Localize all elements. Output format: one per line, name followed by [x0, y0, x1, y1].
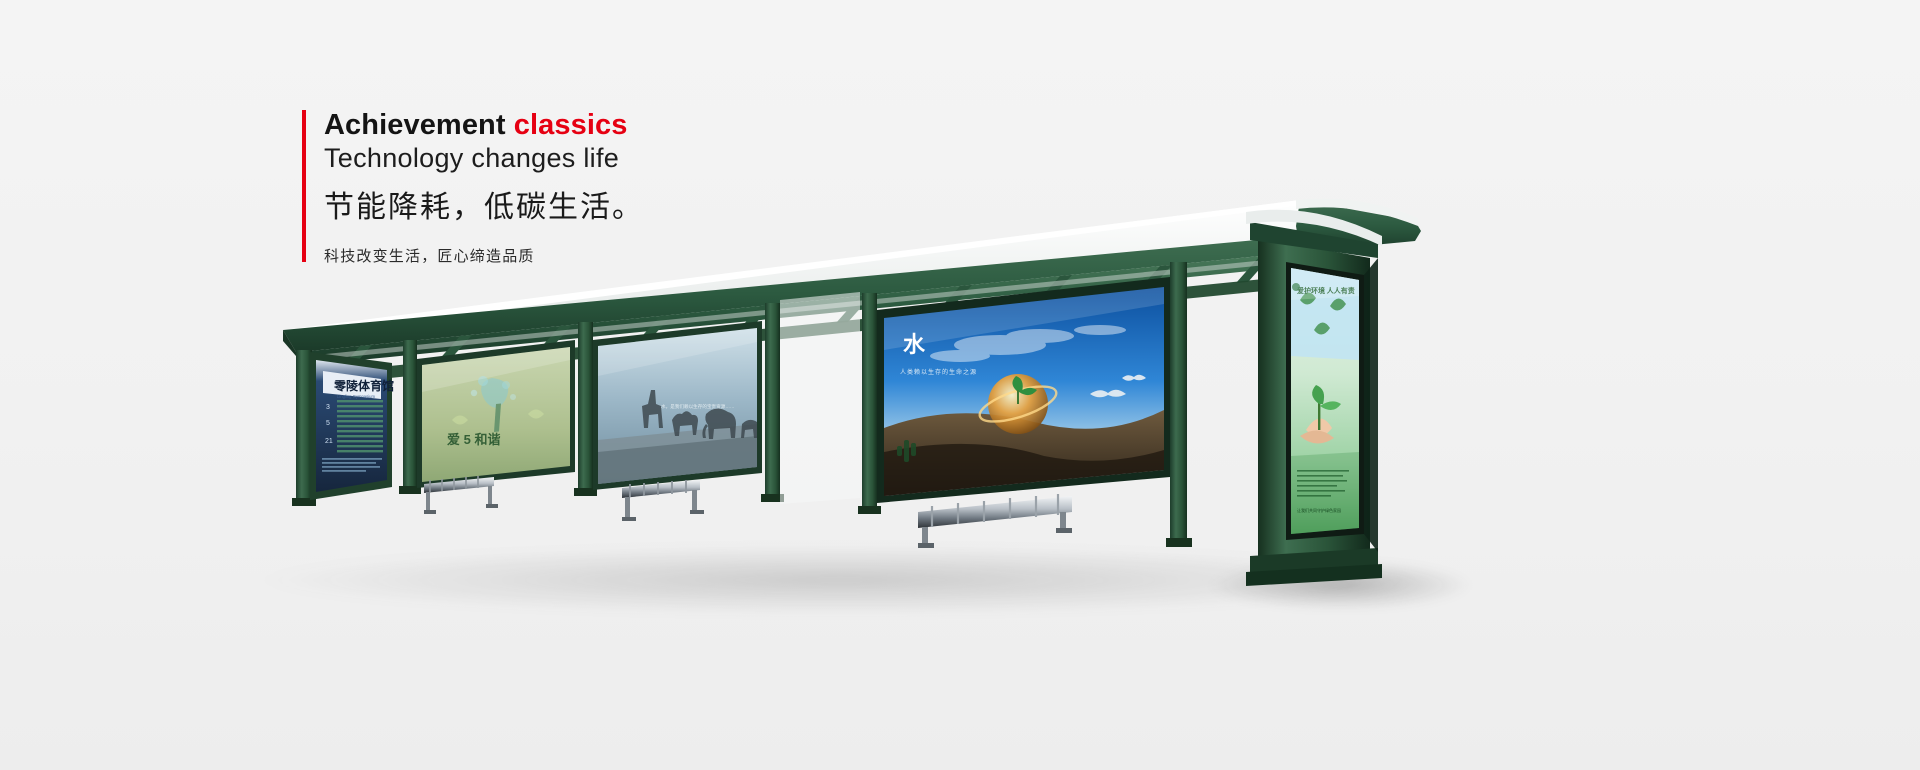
lightbox-1-caption: 爱 5 和谐 [447, 432, 500, 447]
route-number: 21 [325, 438, 333, 445]
panel-pillar-lightbox[interactable]: 爱护环境 人人有责 让我们共同守护绿色家园 [1246, 210, 1382, 586]
panel-lightbox-1[interactable]: 爱 5 和谐 [417, 340, 575, 488]
route-board-title-en: Lingling Gymnasium [337, 394, 375, 399]
lightbox-2-caption: 水，是我们赖以生存的宝贵资源…… [661, 403, 735, 410]
panel-lightbox-3[interactable]: 水 人类赖以生存的生命之源 [877, 277, 1170, 503]
panel-route-board[interactable]: 零陵体育馆 Lingling Gymnasium 3 5 21 [310, 352, 394, 500]
lightbox-3-caption: 人类赖以生存的生命之源 [900, 368, 977, 376]
shelter-back-panels [780, 292, 860, 504]
bench-3 [918, 494, 1072, 548]
panel-lightbox-2[interactable]: 水，是我们赖以生存的宝贵资源…… [593, 321, 762, 490]
bus-shelter-illustration: 零陵体育馆 Lingling Gymnasium 3 5 21 [0, 0, 1920, 770]
route-number: 3 [326, 404, 330, 411]
pillar-ad-caption: 让我们共同守护绿色家园 [1297, 507, 1341, 513]
route-number: 5 [326, 420, 330, 427]
route-board-title: 零陵体育馆 [333, 378, 394, 393]
banner-stage: Achievement classics Technology changes … [0, 0, 1920, 770]
bench-2 [622, 480, 704, 521]
